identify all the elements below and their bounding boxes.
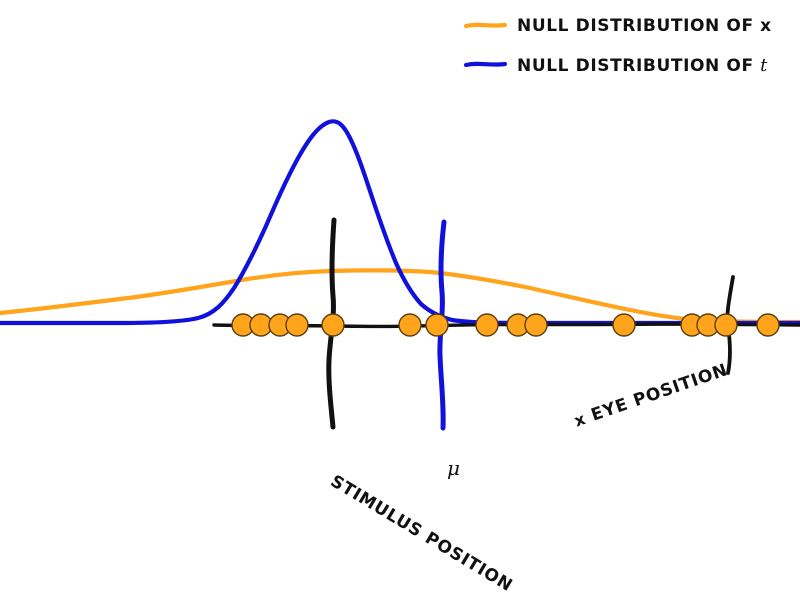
data-point[interactable]: [613, 314, 635, 336]
data-point[interactable]: [286, 314, 308, 336]
data-point[interactable]: [476, 314, 498, 336]
legend-swatch-t-line: [466, 64, 505, 65]
data-point[interactable]: [322, 314, 344, 336]
data-point[interactable]: [757, 314, 779, 336]
null-distribution-x-curve: [0, 270, 800, 322]
figure-root: NULL DISTRIBUTION OF x NULL DISTRIBUTION…: [0, 0, 800, 600]
data-point[interactable]: [525, 314, 547, 336]
null-distribution-t-curve: [0, 121, 800, 323]
data-point[interactable]: [399, 314, 421, 336]
legend-swatches: [466, 25, 505, 65]
data-point[interactable]: [715, 314, 737, 336]
legend-swatch-x-line: [466, 25, 505, 26]
data-point[interactable]: [426, 314, 448, 336]
plot-canvas: [0, 0, 800, 600]
